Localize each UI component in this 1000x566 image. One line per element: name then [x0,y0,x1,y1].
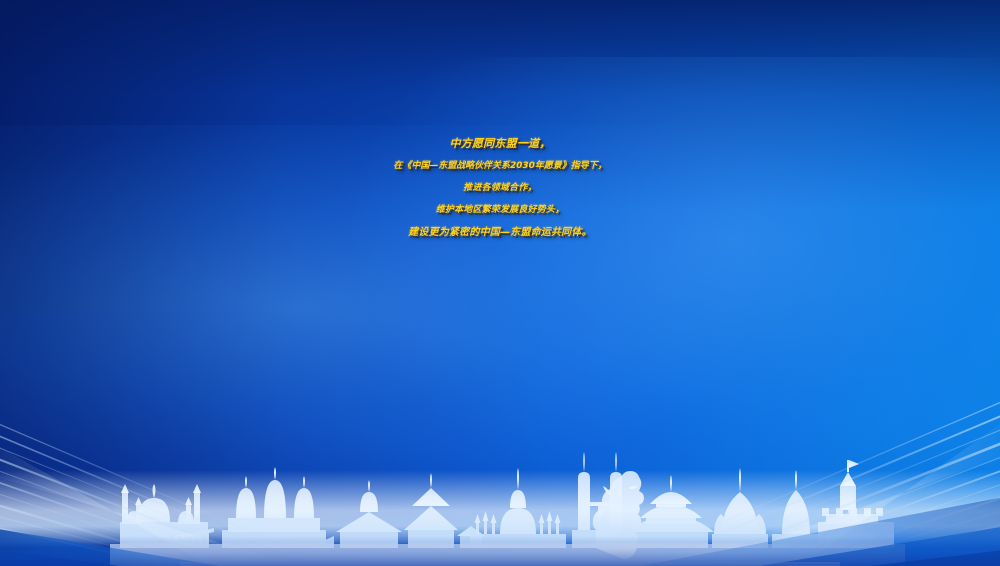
that-luang-stupa-icon [470,468,566,548]
merlion-icon [593,471,644,559]
shwedagon-pagoda-icon [772,470,820,548]
temple-icon [336,480,402,548]
headline-line-1: 中方愿同东盟一道， [0,138,1000,149]
palace-icon [818,460,894,548]
skyline-silhouette [0,426,1000,566]
banner-canvas: 中方愿同东盟一道， 在《中国—东盟战略伙伴关系2030年愿景》指导下， 推进各领… [0,0,1000,566]
headline-line-3: 推进各领域合作， [0,184,1000,193]
headline-text-block: 中方愿同东盟一道， 在《中国—东盟战略伙伴关系2030年愿景》指导下， 推进各领… [0,138,1000,238]
wat-arun-icon [712,468,768,548]
headline-line-4: 维护本地区繁荣发展良好势头， [0,206,1000,215]
headline-line-2: 在《中国—东盟战略伙伴关系2030年愿景》指导下， [0,162,1000,171]
angkor-wat-icon [222,467,334,548]
headline-line-5: 建设更为紧密的中国—东盟命运共同体。 [0,228,1000,238]
mosque-icon [120,484,214,548]
